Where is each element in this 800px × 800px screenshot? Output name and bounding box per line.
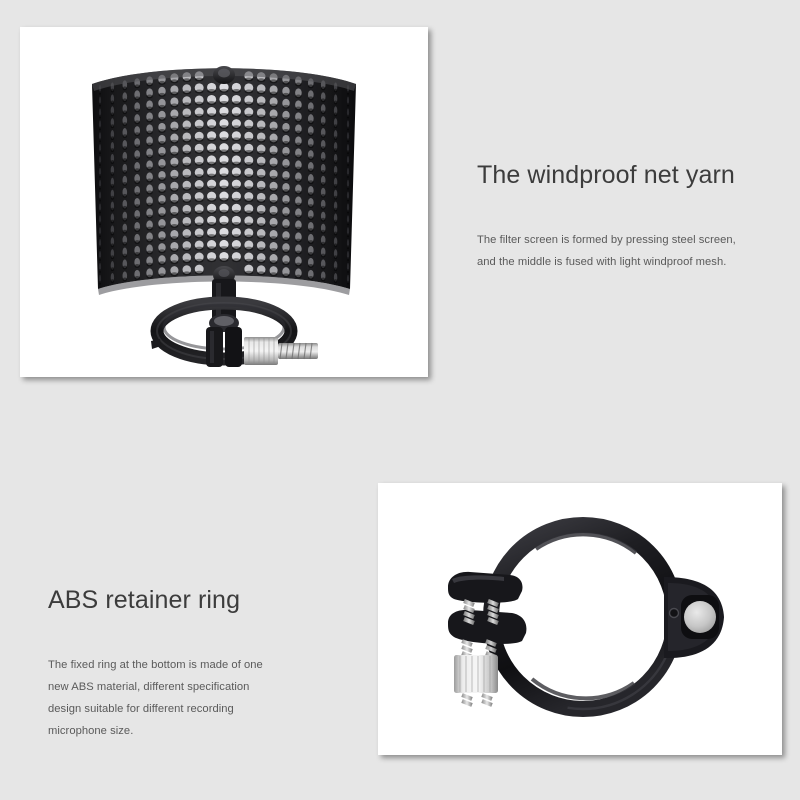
abs-retainer-ring-image [378, 483, 782, 755]
retainer-body: The fixed ring at the bottom is made of … [48, 654, 338, 742]
retainer-heading: ABS retainer ring [48, 585, 338, 616]
retainer-body-line-3: design suitable for different recording [48, 698, 338, 720]
clamp-block-right [225, 327, 242, 367]
retainer-body-line-2: new ABS material, different specificatio… [48, 676, 338, 698]
retainer-ring-photo-card [378, 483, 782, 755]
clamp-tab-lower [448, 610, 526, 644]
windproof-body-line-1: The filter screen is formed by pressing … [477, 229, 777, 251]
windscreen-photo-card [20, 27, 428, 377]
retainer-text-block: ABS retainer ring The fixed ring at the … [48, 585, 338, 742]
retainer-body-line-4: microphone size. [48, 720, 338, 742]
top-rivet-boss [213, 66, 235, 84]
clamp-block-left [206, 327, 223, 367]
windproof-body-line-2: and the middle is fused with light windp… [477, 251, 777, 273]
windproof-heading: The windproof net yarn [477, 160, 777, 191]
silver-pin [684, 601, 716, 633]
windproof-text-block: The windproof net yarn The filter screen… [477, 160, 777, 273]
perforated-windscreen-shield-image [20, 27, 428, 377]
windproof-body: The filter screen is formed by pressing … [477, 229, 777, 273]
retainer-body-line-1: The fixed ring at the bottom is made of … [48, 654, 338, 676]
product-feature-page: The windproof net yarn The filter screen… [0, 0, 800, 800]
windscreen-panel [92, 68, 356, 295]
